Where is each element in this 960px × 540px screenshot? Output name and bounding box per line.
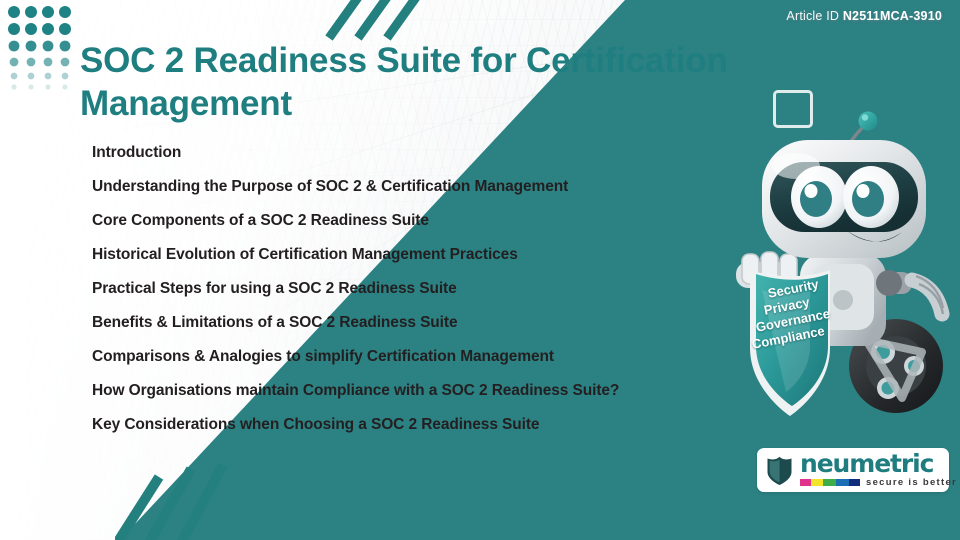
toc-item[interactable]: Understanding the Purpose of SOC 2 & Cer…: [92, 170, 732, 204]
neumetric-logo[interactable]: neumetric secure is better: [757, 448, 949, 492]
article-id: Article ID N2511MCA-3910: [786, 9, 942, 23]
toc-item[interactable]: How Organisations maintain Compliance wi…: [92, 374, 732, 408]
neumetric-shield-icon: [766, 455, 793, 486]
toc-item[interactable]: Benefits & Limitations of a SOC 2 Readin…: [92, 306, 732, 340]
logo-subline: secure is better: [800, 477, 957, 488]
toc-item[interactable]: Comparisons & Analogies to simplify Cert…: [92, 340, 732, 374]
toc-item[interactable]: Historical Evolution of Certification Ma…: [92, 238, 732, 272]
diagonal-stripes-top-icon: [325, 0, 425, 42]
page-title: SOC 2 Readiness Suite for Certification …: [80, 40, 770, 125]
article-id-value: N2511MCA-3910: [843, 9, 942, 23]
dot-grid-icon: [6, 4, 80, 90]
table-of-contents: Introduction Understanding the Purpose o…: [92, 136, 732, 442]
logo-wordmark: neumetric: [800, 452, 957, 476]
logo-color-bar-icon: [800, 479, 860, 486]
presentation-slide: Article ID N2511MCA-3910 SOC 2 Readiness…: [0, 0, 960, 540]
logo-text-block: neumetric secure is better: [800, 452, 957, 489]
logo-tagline: secure is better: [866, 477, 957, 488]
toc-item[interactable]: Introduction: [92, 136, 732, 170]
robot-mascot-icon: [726, 104, 960, 454]
toc-item[interactable]: Practical Steps for using a SOC 2 Readin…: [92, 272, 732, 306]
diagonal-stripes-bottom-icon: [115, 455, 235, 540]
article-id-label: Article ID: [786, 9, 839, 23]
toc-item[interactable]: Key Considerations when Choosing a SOC 2…: [92, 408, 732, 442]
toc-item[interactable]: Core Components of a SOC 2 Readiness Sui…: [92, 204, 732, 238]
